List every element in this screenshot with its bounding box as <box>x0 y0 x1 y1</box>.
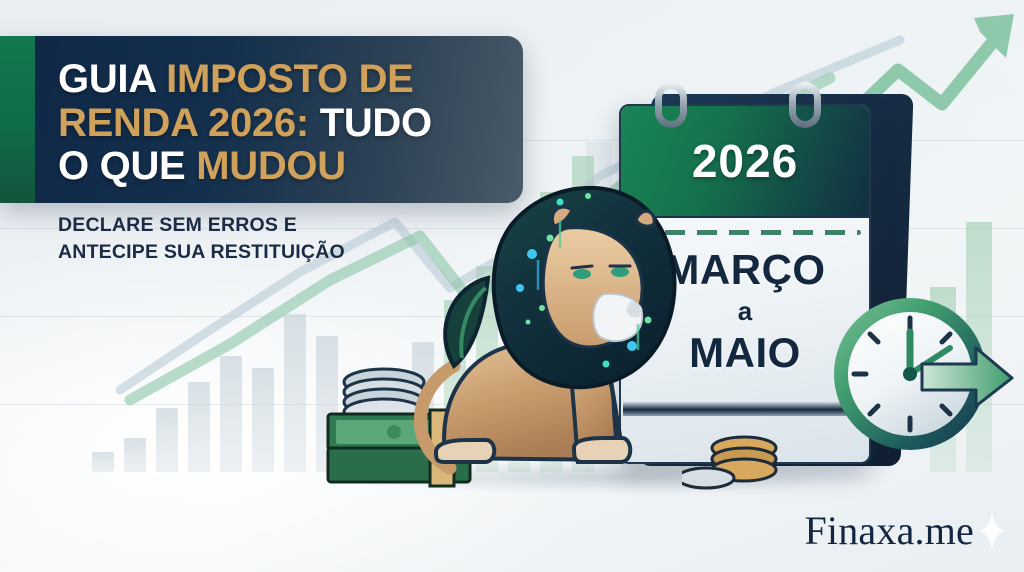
headline-l1-white: GUIA <box>58 57 166 101</box>
clock-arrow-icon <box>826 286 1014 466</box>
headline-l2-white: TUDO <box>309 101 432 145</box>
headline-l1-gold: IMPOSTO DE <box>166 57 413 101</box>
headline-accent-bar <box>0 36 35 203</box>
calendar-ring-left <box>655 82 687 128</box>
headline-l3-gold: MUDOU <box>196 144 346 188</box>
headline-l2-gold: RENDA 2026: <box>58 101 309 145</box>
sparkle-icon <box>978 511 1006 551</box>
headline-l3-white: O QUE <box>58 144 196 188</box>
subtitle: DECLARE SEM ERROS E ANTECIPE SUA RESTITU… <box>58 212 498 266</box>
subtitle-line-1: DECLARE SEM ERROS E <box>58 212 498 239</box>
headline-line-1: GUIA IMPOSTO DE <box>58 58 503 102</box>
headline-line-3: O QUE MUDOU <box>58 145 503 189</box>
brand-name: Finaxa.me <box>804 507 974 554</box>
calendar-ring-right <box>789 82 821 128</box>
headline-panel: GUIA IMPOSTO DE RENDA 2026: TUDO O QUE M… <box>0 36 523 203</box>
subtitle-line-2: ANTECIPE SUA RESTITUIÇÃO <box>58 239 498 266</box>
headline-line-2: RENDA 2026: TUDO <box>58 102 503 146</box>
brand-logo: Finaxa.me <box>804 507 1006 554</box>
page-title: GUIA IMPOSTO DE RENDA 2026: TUDO O QUE M… <box>58 58 503 189</box>
banner: 2026 MARÇO a MAIO <box>0 0 1024 572</box>
